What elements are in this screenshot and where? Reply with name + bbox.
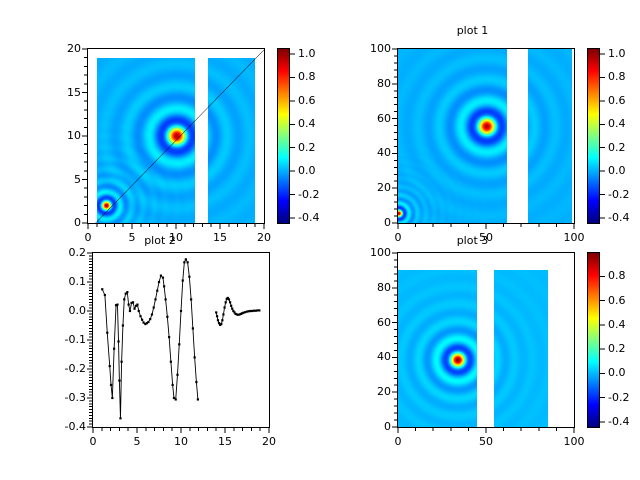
panel-bottom-left-data-point xyxy=(225,301,227,303)
panel-top-left-colorbar-label: 1.0 xyxy=(298,47,316,60)
panel-bottom-left-data-point xyxy=(168,336,170,338)
panel-bottom-right-xtick-label: 0 xyxy=(378,435,418,448)
panel-bottom-left-data-point xyxy=(163,285,165,287)
panel-bottom-left-data-point xyxy=(220,323,222,325)
panel-top-right-colorbar-label: 1.0 xyxy=(608,47,626,60)
panel-bottom-right-colorbar-label: 0.0 xyxy=(608,366,626,379)
panel-bottom-left-data-point xyxy=(182,279,184,281)
panel-bottom-right-colorbar-gradient xyxy=(588,253,599,427)
panel-bottom-right-ytick-label: 60 xyxy=(351,316,391,329)
panel-top-left-colorbar-label: -0.2 xyxy=(298,188,319,201)
panel-top-right-axes xyxy=(397,48,575,224)
panel-top-right-ytick-label: 60 xyxy=(351,112,391,125)
panel-bottom-left-data-point xyxy=(162,277,164,279)
panel-top-left-colorbar-label: 0.4 xyxy=(298,117,316,130)
panel-bottom-left-data-point xyxy=(180,310,182,312)
panel-top-right-colorbar-label: -0.2 xyxy=(608,188,629,201)
panel-bottom-left-xtick-label: 15 xyxy=(205,435,245,448)
panel-bottom-left-data-point xyxy=(106,332,108,334)
panel-bottom-left-axes xyxy=(92,252,270,428)
panel-bottom-left-data-point xyxy=(223,306,225,308)
panel-bottom-right-colorbar-label: 0.2 xyxy=(608,342,626,355)
panel-bottom-right-ytick-label: 80 xyxy=(351,281,391,294)
panel-top-right-colorbar-label: 0.8 xyxy=(608,70,626,83)
panel-top-left-axes xyxy=(87,48,265,224)
panel-bottom-left-data-point xyxy=(139,315,141,317)
panel-bottom-left-plot-area xyxy=(93,253,269,427)
panel-bottom-left-data-point xyxy=(175,398,177,400)
panel-bottom-right-xtick-label: 100 xyxy=(554,435,594,448)
panel-top-left-colorbar-label: 0.0 xyxy=(298,164,316,177)
panel-bottom-left-data-point xyxy=(136,304,138,306)
panel-bottom-left-ytick-label: 0.1 xyxy=(44,275,86,288)
panel-bottom-left-ytick-label: -0.4 xyxy=(44,420,86,433)
panel-bottom-right-title: plot 3 xyxy=(370,234,575,247)
panel-bottom-left-data-point xyxy=(122,324,124,326)
panel-bottom-left-data-point xyxy=(153,306,155,308)
panel-bottom-left-data-point xyxy=(123,298,125,300)
panel-bottom-left-data-point xyxy=(178,343,180,345)
panel-bottom-left-data-point xyxy=(113,348,115,350)
panel-top-right-title: plot 1 xyxy=(370,24,575,37)
panel-bottom-left-xtick-label: 20 xyxy=(249,435,289,448)
panel-top-right-ytick-label: 40 xyxy=(351,146,391,159)
panel-top-right-ytick-label: 0 xyxy=(351,216,391,229)
panel-top-left-colorbar-label: 0.6 xyxy=(298,94,316,107)
panel-bottom-left: plot 2 05101520-0.4-0.3-0.2-0.10.00.10.2 xyxy=(40,234,330,460)
panel-bottom-left-data-point xyxy=(217,319,219,321)
panel-top-left-colorbar-gradient xyxy=(278,49,289,223)
panel-bottom-right-colorbar-label: 0.6 xyxy=(608,294,626,307)
panel-bottom-left-xtick-label: 10 xyxy=(161,435,201,448)
panel-bottom-left-data-point xyxy=(228,298,230,300)
panel-bottom-right-ytick-label: 100 xyxy=(351,246,391,259)
panel-bottom-left-data-point xyxy=(197,398,199,400)
panel-bottom-left-data-point xyxy=(230,305,232,307)
panel-top-right-ytick-label: 20 xyxy=(351,181,391,194)
panel-bottom-left-data-point xyxy=(165,298,167,300)
panel-bottom-left-ytick-label: -0.1 xyxy=(44,333,86,346)
panel-bottom-right-image xyxy=(398,253,574,427)
panel-bottom-left-ytick-label: -0.3 xyxy=(44,391,86,404)
panel-bottom-left-data-point xyxy=(187,261,189,263)
panel-bottom-left-data-point xyxy=(147,321,149,323)
panel-bottom-left-data-point xyxy=(190,298,192,300)
panel-bottom-left-xtick-label: 5 xyxy=(117,435,157,448)
panel-bottom-left-data-point xyxy=(128,304,130,306)
panel-bottom-left-data-point xyxy=(166,316,168,318)
panel-bottom-left-data-point xyxy=(132,301,134,303)
panel-bottom-left-title: plot 2 xyxy=(60,234,260,247)
panel-bottom-right-ytick-label: 20 xyxy=(351,385,391,398)
panel-top-left-colorbar-label: 0.8 xyxy=(298,70,316,83)
panel-bottom-left-data-point xyxy=(126,291,128,293)
panel-bottom-right-ytick-label: 0 xyxy=(351,420,391,433)
figure-canvas: 0510152005101520-0.4-0.20.00.20.40.60.81… xyxy=(0,0,640,480)
panel-bottom-left-data-point xyxy=(104,294,106,296)
panel-bottom-left-data-point xyxy=(185,258,187,260)
panel-top-left-ytick-label: 15 xyxy=(41,86,81,99)
panel-bottom-left-data-point xyxy=(109,365,111,367)
panel-bottom-left-data-point xyxy=(119,417,121,419)
panel-top-left-colorbar-label: -0.4 xyxy=(298,211,319,224)
panel-bottom-right-xtick-label: 50 xyxy=(466,435,506,448)
panel-bottom-left-data-point xyxy=(216,315,218,317)
panel-bottom-left-data-point xyxy=(149,318,151,320)
panel-bottom-right-colorbar-label: -0.2 xyxy=(608,391,629,404)
panel-bottom-right: plot 3 050100020406080100-0.4-0.20.00.20… xyxy=(345,234,635,460)
panel-top-right-colorbar-label: 0.4 xyxy=(608,117,626,130)
panel-bottom-left-data-point xyxy=(117,340,119,342)
panel-bottom-left-data-point xyxy=(222,313,224,315)
panel-bottom-left-data-point xyxy=(221,319,223,321)
panel-top-left-ytick-label: 10 xyxy=(41,129,81,142)
panel-bottom-left-data-point xyxy=(138,310,140,312)
panel-bottom-left-data-point xyxy=(133,308,135,310)
panel-top-right-colorbar-label: 0.6 xyxy=(608,94,626,107)
panel-bottom-left-ytick-label: 0.2 xyxy=(44,246,86,259)
panel-bottom-left-ytick-label: 0.0 xyxy=(44,304,86,317)
panel-bottom-right-colorbar-label: 0.8 xyxy=(608,269,626,282)
panel-top-left-colorbar xyxy=(277,48,290,224)
panel-bottom-left-data-point xyxy=(176,374,178,376)
panel-bottom-left-data-point xyxy=(192,327,194,329)
panel-bottom-left-series-line xyxy=(102,259,198,418)
panel-bottom-left-data-point xyxy=(258,309,260,311)
panel-bottom-left-data-point xyxy=(231,308,233,310)
panel-top-right-colorbar-label: -0.4 xyxy=(608,211,629,224)
panel-bottom-left-data-point xyxy=(129,310,131,312)
panel-bottom-left-data-point xyxy=(195,381,197,383)
panel-bottom-left-data-point xyxy=(151,313,153,315)
panel-bottom-left-data-point xyxy=(101,288,103,290)
panel-top-right-ytick-label: 80 xyxy=(351,77,391,90)
panel-bottom-left-data-point xyxy=(160,275,162,277)
panel-bottom-left-data-point xyxy=(141,319,143,321)
panel-top-right-colorbar xyxy=(587,48,600,224)
panel-top-right-colorbar-gradient xyxy=(588,49,599,223)
panel-top-left-ytick-label: 20 xyxy=(41,42,81,55)
panel-top-left-ytick-label: 0 xyxy=(41,216,81,229)
panel-bottom-left-data-point xyxy=(154,298,156,300)
panel-bottom-left-data-point xyxy=(188,276,190,278)
panel-top-right: plot 1 050100020406080100-0.4-0.20.00.20… xyxy=(345,24,635,230)
panel-bottom-left-xtick-label: 0 xyxy=(73,435,113,448)
panel-bottom-left-data-point xyxy=(116,304,118,306)
panel-top-left-ytick-label: 5 xyxy=(41,173,81,186)
panel-bottom-left-data-point xyxy=(121,361,123,363)
panel-bottom-left-data-point xyxy=(170,361,172,363)
panel-bottom-right-colorbar xyxy=(587,252,600,428)
panel-bottom-left-data-point xyxy=(194,356,196,358)
panel-bottom-left-data-point xyxy=(110,384,112,386)
panel-bottom-left-data-point xyxy=(183,261,185,263)
panel-bottom-left-data-point xyxy=(111,397,113,399)
panel-top-right-image xyxy=(398,49,574,223)
panel-bottom-left-ytick-label: -0.2 xyxy=(44,362,86,375)
panel-top-right-ytick-label: 100 xyxy=(351,42,391,55)
panel-bottom-right-colorbar-label: -0.4 xyxy=(608,415,629,428)
panel-bottom-left-data-point xyxy=(215,311,217,313)
panel-top-left-colorbar-label: 0.2 xyxy=(298,141,316,154)
panel-bottom-left-data-point xyxy=(158,281,160,283)
panel-bottom-right-colorbar-label: 0.4 xyxy=(608,318,626,331)
panel-bottom-right-ytick-label: 40 xyxy=(351,350,391,363)
panel-bottom-left-data-point xyxy=(172,384,174,386)
panel-top-right-colorbar-label: 0.2 xyxy=(608,141,626,154)
panel-bottom-left-data-point xyxy=(156,290,158,292)
panel-bottom-right-axes xyxy=(397,252,575,428)
panel-top-right-colorbar-label: 0.0 xyxy=(608,164,626,177)
panel-top-left-image xyxy=(88,49,264,223)
panel-top-left: 0510152005101520-0.4-0.20.00.20.40.60.81… xyxy=(40,30,330,230)
panel-bottom-left-data-point xyxy=(118,380,120,382)
panel-bottom-left-data-point xyxy=(229,301,231,303)
